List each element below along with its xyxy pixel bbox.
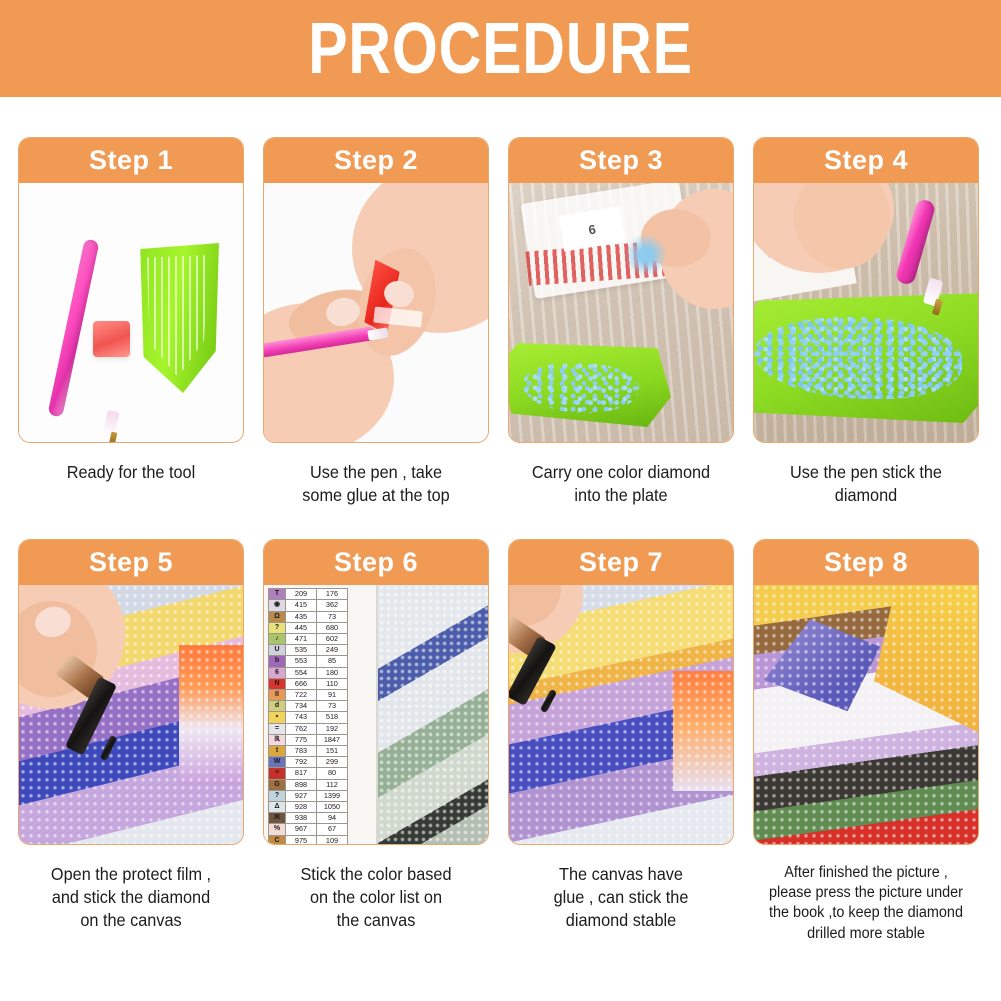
color-count-cell: 67 [317, 824, 348, 835]
step-card-3: Step 3 6 [508, 137, 734, 443]
step-card-8: Step 8 [753, 539, 979, 845]
step-caption-5: Open the protect film , and stick the di… [26, 863, 236, 932]
color-symbol-cell: Ω [269, 611, 286, 622]
step-image-3: 6 [509, 183, 733, 442]
color-count-cell: 85 [317, 656, 348, 667]
color-count-cell: 299 [317, 757, 348, 768]
color-symbol-cell: d [269, 701, 286, 712]
step-cell-8: Step 8 After finished the picture , plea… [753, 539, 979, 944]
color-symbol-cell: U [269, 645, 286, 656]
color-symbol-cell: 6 [269, 667, 286, 678]
color-list-row: ∘743518 [269, 712, 348, 723]
step-caption-6: Stick the color based on the color list … [271, 863, 481, 932]
color-count-cell: 176 [317, 589, 348, 600]
color-count-cell: 112 [317, 779, 348, 790]
color-symbol-cell: G [269, 779, 286, 790]
color-code-cell: 553 [286, 656, 317, 667]
step-card-6: Step 6 T209176◉415362Ω43573?445680♪47160… [263, 539, 489, 845]
color-count-cell: 109 [317, 835, 348, 844]
color-list-row: N666110 [269, 678, 348, 689]
step-header-4: Step 4 [754, 138, 978, 183]
color-count-cell: 73 [317, 701, 348, 712]
step-caption-8: After finished the picture , please pres… [761, 863, 971, 944]
step-card-1: Step 1 [18, 137, 244, 443]
step-caption-2: Use the pen , take some glue at the top [271, 461, 481, 507]
color-code-cell: 554 [286, 667, 317, 678]
color-symbol-cell: N [269, 678, 286, 689]
color-code-cell: 927 [286, 790, 317, 801]
step-cell-7: Step 7 The canvas have glue , can stick … [508, 539, 734, 944]
color-list-sheet: T209176◉415362Ω43573?445680♪471602U53524… [264, 585, 378, 844]
color-symbol-cell: ∘ [269, 712, 286, 723]
step-card-4: Step 4 [753, 137, 979, 443]
color-count-cell: 94 [317, 813, 348, 824]
color-list-row: b55385 [269, 656, 348, 667]
color-code-cell: 792 [286, 757, 317, 768]
step-cell-3: Step 3 6 Carry one color diamon [508, 137, 734, 507]
step-header-3: Step 3 [509, 138, 733, 183]
color-symbol-cell: ? [269, 622, 286, 633]
color-symbol-cell: ♪ [269, 634, 286, 645]
color-list-row: ≡81780 [269, 768, 348, 779]
color-count-cell: 1847 [317, 734, 348, 745]
color-list-row: T209176 [269, 589, 348, 600]
step-card-7: Step 7 [508, 539, 734, 845]
color-code-cell: 435 [286, 611, 317, 622]
step-image-7 [509, 585, 733, 844]
color-count-cell: 110 [317, 678, 348, 689]
color-list-row: ◉415362 [269, 600, 348, 611]
step-header-1: Step 1 [19, 138, 243, 183]
color-symbol-cell: ◉ [269, 600, 286, 611]
color-list-body: T209176◉415362Ω43573?445680♪471602U53524… [269, 589, 348, 845]
color-count-cell: 680 [317, 622, 348, 633]
color-code-cell: 415 [286, 600, 317, 611]
color-code-cell: 775 [286, 734, 317, 745]
scene-stick-on-canvas [19, 585, 243, 844]
step-image-6: T209176◉415362Ω43573?445680♪471602U53524… [264, 585, 488, 844]
color-list-row: d73473 [269, 701, 348, 712]
color-list-row: W792299 [269, 757, 348, 768]
color-list-row: Δ9281050 [269, 802, 348, 813]
color-code-cell: 975 [286, 835, 317, 844]
color-list-row: %96767 [269, 824, 348, 835]
step-cell-1: Step 1 Ready for the tool [18, 137, 244, 507]
step-header-2: Step 2 [264, 138, 488, 183]
color-count-cell: 249 [317, 645, 348, 656]
color-count-cell: 91 [317, 690, 348, 701]
step-image-1 [19, 183, 243, 442]
color-symbol-cell: Δ [269, 802, 286, 813]
step-cell-6: Step 6 T209176◉415362Ω43573?445680♪47160… [263, 539, 489, 944]
step-cell-4: Step 4 Use the pe [753, 137, 979, 507]
color-count-cell: 192 [317, 723, 348, 734]
color-code-cell: 817 [286, 768, 317, 779]
color-code-cell: 743 [286, 712, 317, 723]
color-symbol-cell: ℝ [269, 734, 286, 745]
steps-row-2: Step 5 Open the protect film , [0, 539, 1001, 944]
page-header-banner: PROCEDURE [0, 0, 1001, 97]
color-symbol-cell: II [269, 690, 286, 701]
scene-pick-diamond [754, 183, 978, 442]
color-count-cell: 1050 [317, 802, 348, 813]
color-symbol-cell: W [269, 757, 286, 768]
step-caption-3: Carry one color diamond into the plate [516, 461, 726, 507]
procedure-steps-grid: Step 1 Ready for the tool Step 2 [0, 137, 1001, 944]
scene-finished-picture [754, 585, 978, 844]
color-code-cell: 666 [286, 678, 317, 689]
color-count-cell: 151 [317, 746, 348, 757]
color-count-cell: 362 [317, 600, 348, 611]
color-symbol-cell: = [269, 723, 286, 734]
step-image-8 [754, 585, 978, 844]
falling-diamonds-icon [627, 231, 665, 279]
color-code-cell: 535 [286, 645, 317, 656]
color-count-cell: 80 [317, 768, 348, 779]
color-list-row: C975109 [269, 835, 348, 844]
step-image-4 [754, 183, 978, 442]
step-header-6: Step 6 [264, 540, 488, 585]
scene-glue-canvas [509, 585, 733, 844]
color-symbol-cell: T [269, 589, 286, 600]
color-list-row: II72291 [269, 690, 348, 701]
color-list-row: U535249 [269, 645, 348, 656]
step-card-5: Step 5 [18, 539, 244, 845]
color-symbol-cell: Ж [269, 813, 286, 824]
step-caption-4: Use the pen stick the diamond [761, 461, 971, 507]
step-caption-7: The canvas have glue , can stick the dia… [516, 863, 726, 932]
color-code-cell: 734 [286, 701, 317, 712]
color-count-cell: 73 [317, 611, 348, 622]
mosaic-canvas-icon [378, 585, 488, 844]
step-caption-1: Ready for the tool [26, 461, 236, 484]
step-image-5 [19, 585, 243, 844]
color-code-cell: 762 [286, 723, 317, 734]
color-count-cell: 180 [317, 667, 348, 678]
color-list-row: ?9271399 [269, 790, 348, 801]
color-list-row: ♪471602 [269, 634, 348, 645]
color-symbol-cell: % [269, 824, 286, 835]
color-list-row: G898112 [269, 779, 348, 790]
color-list-row: ?445680 [269, 622, 348, 633]
steps-row-1: Step 1 Ready for the tool Step 2 [0, 137, 1001, 507]
step-header-7: Step 7 [509, 540, 733, 585]
step-image-2 [264, 183, 488, 442]
color-count-cell: 518 [317, 712, 348, 723]
color-list-table: T209176◉415362Ω43573?445680♪471602U53524… [268, 588, 348, 844]
color-code-cell: 722 [286, 690, 317, 701]
glue-square-icon [93, 321, 130, 357]
color-code-cell: 967 [286, 824, 317, 835]
scene-pour-diamonds: 6 [509, 183, 733, 442]
color-list-row: 6554180 [269, 667, 348, 678]
color-symbol-cell: ≡ [269, 768, 286, 779]
color-code-cell: 898 [286, 779, 317, 790]
color-count-cell: 1399 [317, 790, 348, 801]
color-code-cell: 938 [286, 813, 317, 824]
diamond-pen-icon [47, 238, 99, 417]
color-count-cell: 602 [317, 634, 348, 645]
step-card-2: Step 2 [263, 137, 489, 443]
step-header-8: Step 8 [754, 540, 978, 585]
color-list-row: Ж93894 [269, 813, 348, 824]
scene-hands-glue [264, 183, 488, 442]
color-symbol-cell: t [269, 746, 286, 757]
color-list-row: Ω43573 [269, 611, 348, 622]
color-code-cell: 471 [286, 634, 317, 645]
color-code-cell: 445 [286, 622, 317, 633]
color-list-row: =762192 [269, 723, 348, 734]
color-symbol-cell: b [269, 656, 286, 667]
scene-tools [19, 183, 243, 442]
color-list-row: ℝ7751847 [269, 734, 348, 745]
page-title: PROCEDURE [308, 13, 693, 85]
step-cell-2: Step 2 Use the pe [263, 137, 489, 507]
color-symbol-cell: C [269, 835, 286, 844]
color-code-cell: 928 [286, 802, 317, 813]
color-code-cell: 783 [286, 746, 317, 757]
color-symbol-cell: ? [269, 790, 286, 801]
color-code-cell: 209 [286, 589, 317, 600]
diamond-bead-grid-texture [754, 585, 978, 844]
color-list-row: t783151 [269, 746, 348, 757]
step-cell-5: Step 5 Open the protect film , [18, 539, 244, 944]
scene-color-list: T209176◉415362Ω43573?445680♪471602U53524… [264, 585, 488, 844]
step-header-5: Step 5 [19, 540, 243, 585]
